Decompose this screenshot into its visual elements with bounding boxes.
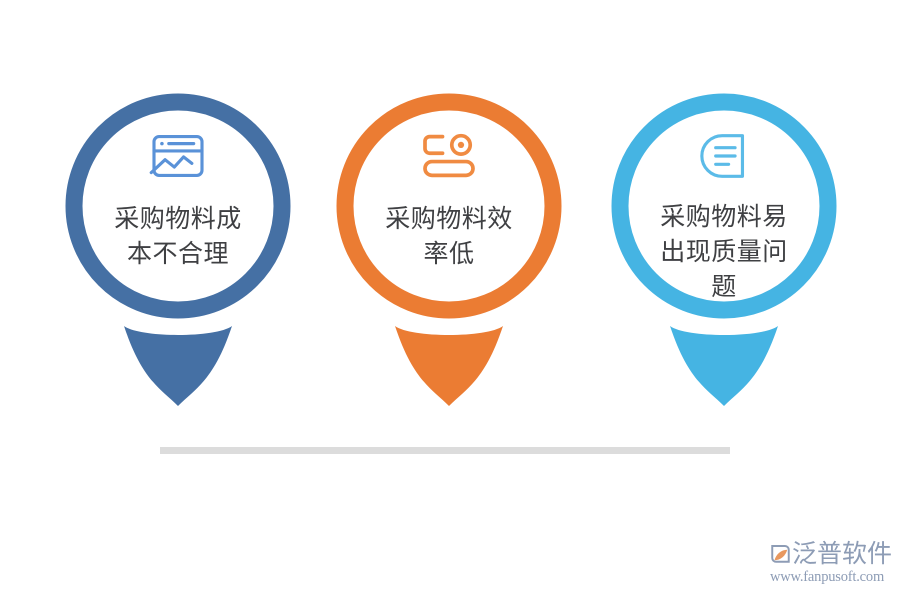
pin-tip-triangle xyxy=(670,326,778,406)
divider xyxy=(160,447,730,454)
pin-ring-circle xyxy=(74,102,282,310)
pin-tip-triangle xyxy=(395,326,503,406)
pin-efficiency[interactable]: 采购物料效 率低 xyxy=(331,88,567,406)
pin-tip-triangle xyxy=(124,326,232,406)
pin-ring-and-tip xyxy=(620,102,828,406)
pin-row: 采购物料成 本不合理 采购物料效 率低 xyxy=(0,88,900,408)
pin-shape xyxy=(60,88,296,406)
pin-shape xyxy=(606,88,842,406)
logo-url-text: www.fanpusoft.com xyxy=(770,569,892,586)
pin-ring-circle xyxy=(620,102,828,310)
pin-quality[interactable]: 采购物料易 出现质量问 题 xyxy=(606,88,842,406)
pin-ring-and-tip xyxy=(74,102,282,406)
pin-ring-and-tip xyxy=(345,102,553,406)
pin-cost[interactable]: 采购物料成 本不合理 xyxy=(60,88,296,406)
fanpu-logo-mark xyxy=(770,540,791,567)
watermark-logo: 泛普软件 www.fanpusoft.com xyxy=(770,536,892,588)
pin-ring-circle xyxy=(345,102,553,310)
logo-row: 泛普软件 xyxy=(770,536,892,568)
pin-shape xyxy=(331,88,567,406)
logo-brand-text: 泛普软件 xyxy=(792,541,892,568)
